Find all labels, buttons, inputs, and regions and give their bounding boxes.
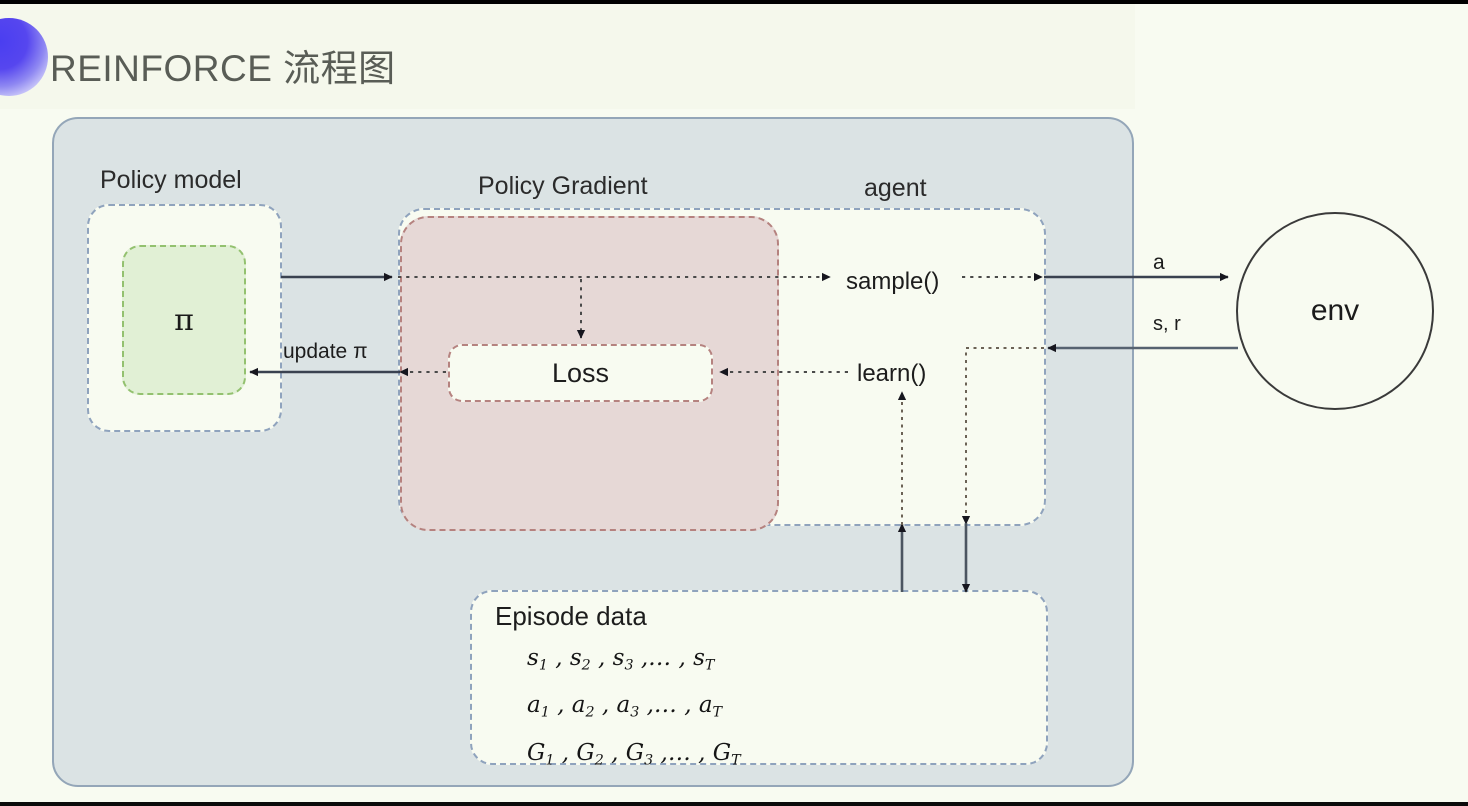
loss-label: Loss <box>448 344 713 402</box>
episode-row-actions: a1 , a2 , a3 ,… , aT <box>527 685 741 732</box>
edge-label-state-reward: s, r <box>1153 313 1181 336</box>
page-title: REINFORCE 流程图 <box>50 38 396 92</box>
letterbox-bottom-bar <box>0 802 1468 806</box>
edge-label-action: a <box>1153 251 1165 275</box>
letterbox-top-bar <box>0 0 1468 4</box>
episode-data-lines: s1 , s2 , s3 ,… , sT a1 , a2 , a3 ,… , a… <box>527 638 741 780</box>
policy-pi-label: π <box>122 245 246 395</box>
episode-row-states: s1 , s2 , s3 ,… , sT <box>527 638 741 685</box>
edge-label-update-pi: update π <box>283 340 368 364</box>
agent-label: agent <box>864 174 927 203</box>
policy-gradient-label: Policy Gradient <box>478 172 648 201</box>
episode-row-returns: G1 , G2 , G3 ,… , GT <box>527 733 741 780</box>
episode-data-title: Episode data <box>495 601 647 632</box>
agent-method-sample[interactable]: sample() <box>846 268 939 296</box>
policy-model-label: Policy model <box>100 166 242 195</box>
agent-method-learn[interactable]: learn() <box>857 360 926 388</box>
slide-canvas: REINFORCE 流程图 Policy model π agent Polic… <box>0 0 1468 806</box>
env-label: env <box>1236 212 1434 410</box>
